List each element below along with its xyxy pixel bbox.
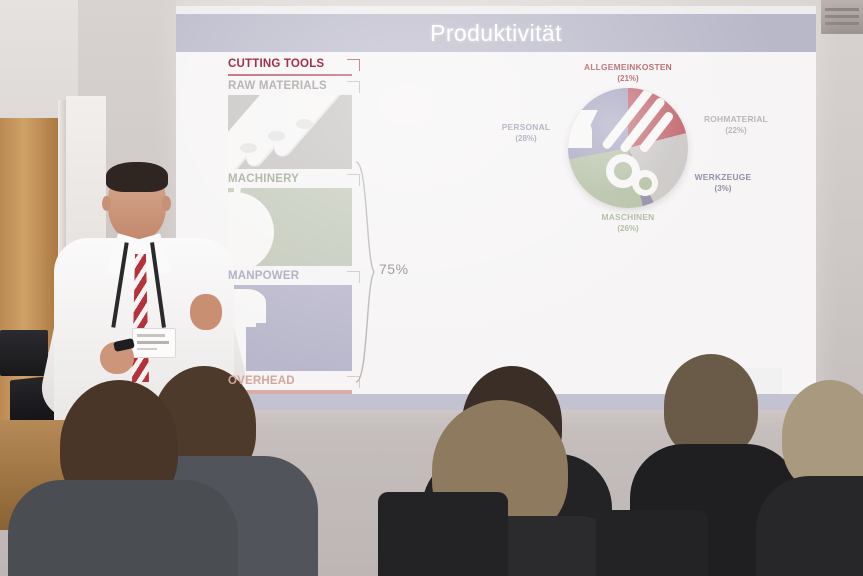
corner-tick-icon	[347, 271, 360, 283]
corner-tick-icon	[347, 174, 360, 186]
name-badge	[132, 328, 176, 358]
presenter-ear-left	[102, 196, 111, 211]
cost-block-label: OVERHEAD	[228, 375, 352, 389]
cost-block-label: MACHINERY	[228, 173, 352, 187]
pie-label-allgemeinkosten: ALLGEMEINKOSTEN (21%)	[568, 62, 688, 84]
audience	[0, 356, 863, 576]
cutting-tools-rule-icon	[228, 74, 352, 76]
chair-back	[378, 492, 508, 576]
bracket-percentage-label: 75%	[379, 261, 409, 277]
corner-tick-icon	[347, 59, 360, 71]
presenter-right-hand	[190, 294, 222, 330]
pie-label-maschinen: MASCHINEN (26%)	[584, 212, 672, 234]
air-vent-icon	[821, 0, 863, 34]
cost-block-label: RAW MATERIALS	[228, 80, 352, 94]
pie-label-personal: PERSONAL (28%)	[484, 122, 568, 144]
pie-label-rohmaterial: ROHMATERIAL (22%)	[690, 114, 782, 136]
pie-chart: ALLGEMEINKOSTEN (21%) ROHMATERIAL (22%) …	[476, 66, 796, 246]
corner-tick-icon	[347, 81, 360, 93]
cost-block-label: MANPOWER	[228, 270, 352, 284]
presenter-ear-right	[162, 196, 171, 211]
slide-header-bar: Produktivität	[176, 14, 816, 52]
pie-circle	[568, 88, 688, 208]
pie-label-werkzeuge: WERKZEUGE (3%)	[682, 172, 764, 194]
cost-block-cutting-tools: CUTTING TOOLS	[228, 58, 352, 76]
chair-back	[596, 510, 708, 576]
projection-screen: Produktivität CUTTING TOOLS RAW MATERIAL…	[176, 6, 816, 410]
presentation-photo: Produktivität CUTTING TOOLS RAW MATERIAL…	[0, 0, 863, 576]
corner-tick-icon	[347, 376, 360, 388]
cost-block-raw-materials: RAW MATERIALS	[228, 80, 352, 169]
presenter-hair	[106, 162, 168, 192]
raw-bars-icon	[228, 95, 352, 169]
pie-gloss	[568, 88, 688, 208]
page-title: Produktivität	[430, 20, 562, 47]
cost-block-label: CUTTING TOOLS	[228, 58, 352, 72]
